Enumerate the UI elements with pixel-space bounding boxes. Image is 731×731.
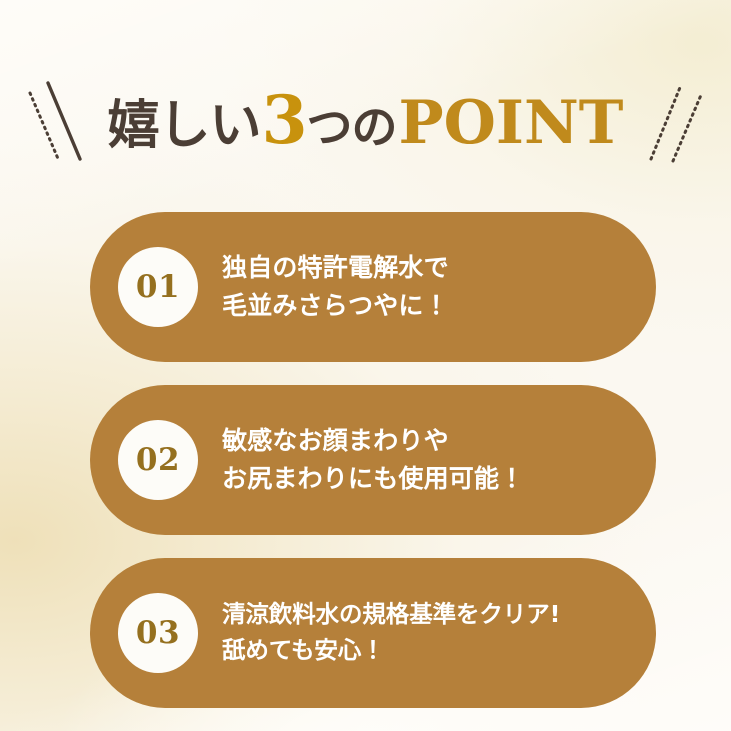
point-text-line: 舐めても安心！ (222, 633, 642, 669)
point-text-02: 敏感なお顔まわりや お尻まわりにも使用可能！ (222, 422, 656, 498)
point-item-01: 01 独自の特許電解水で 毛並みさらつやに！ (90, 212, 656, 362)
point-text-line: 毛並みさらつやに！ (222, 287, 642, 325)
heading-jp-prefix: 嬉しい (108, 96, 261, 156)
slash-decoration-left-icon (26, 75, 104, 165)
point-text-line: 清涼飲料水の規格基準をクリア! (222, 597, 642, 633)
point-number-03: 03 (136, 618, 180, 649)
point-text-line: お尻まわりにも使用可能！ (222, 460, 642, 498)
point-number-02: 02 (136, 445, 180, 476)
point-number-01: 01 (136, 272, 180, 303)
heading-english: POINT (399, 88, 624, 158)
slash-decoration-right-icon (627, 75, 705, 165)
point-badge-02: 02 (118, 420, 198, 500)
heading-counter: つの (307, 100, 397, 154)
point-text-03: 清涼飲料水の規格基準をクリア! 舐めても安心！ (222, 597, 656, 668)
point-text-line: 敏感なお顔まわりや (222, 422, 642, 460)
heading-number: 3 (262, 81, 308, 159)
point-text-01: 独自の特許電解水で 毛並みさらつやに！ (222, 249, 656, 325)
heading-row: 嬉しい3つのPOINT (0, 74, 731, 166)
point-item-03: 03 清涼飲料水の規格基準をクリア! 舐めても安心！ (90, 558, 656, 708)
point-item-02: 02 敏感なお顔まわりや お尻まわりにも使用可能！ (90, 385, 656, 535)
promo-canvas: 嬉しい3つのPOINT 01 独自の特許電解水で 毛並みさらつやに！ 02 敏感… (0, 0, 731, 731)
point-text-line: 独自の特許電解水で (222, 249, 642, 287)
page-title: 嬉しい3つのPOINT (108, 87, 624, 153)
point-badge-01: 01 (118, 247, 198, 327)
points-list: 01 独自の特許電解水で 毛並みさらつやに！ 02 敏感なお顔まわりや お尻まわ… (90, 212, 656, 708)
point-badge-03: 03 (118, 593, 198, 673)
